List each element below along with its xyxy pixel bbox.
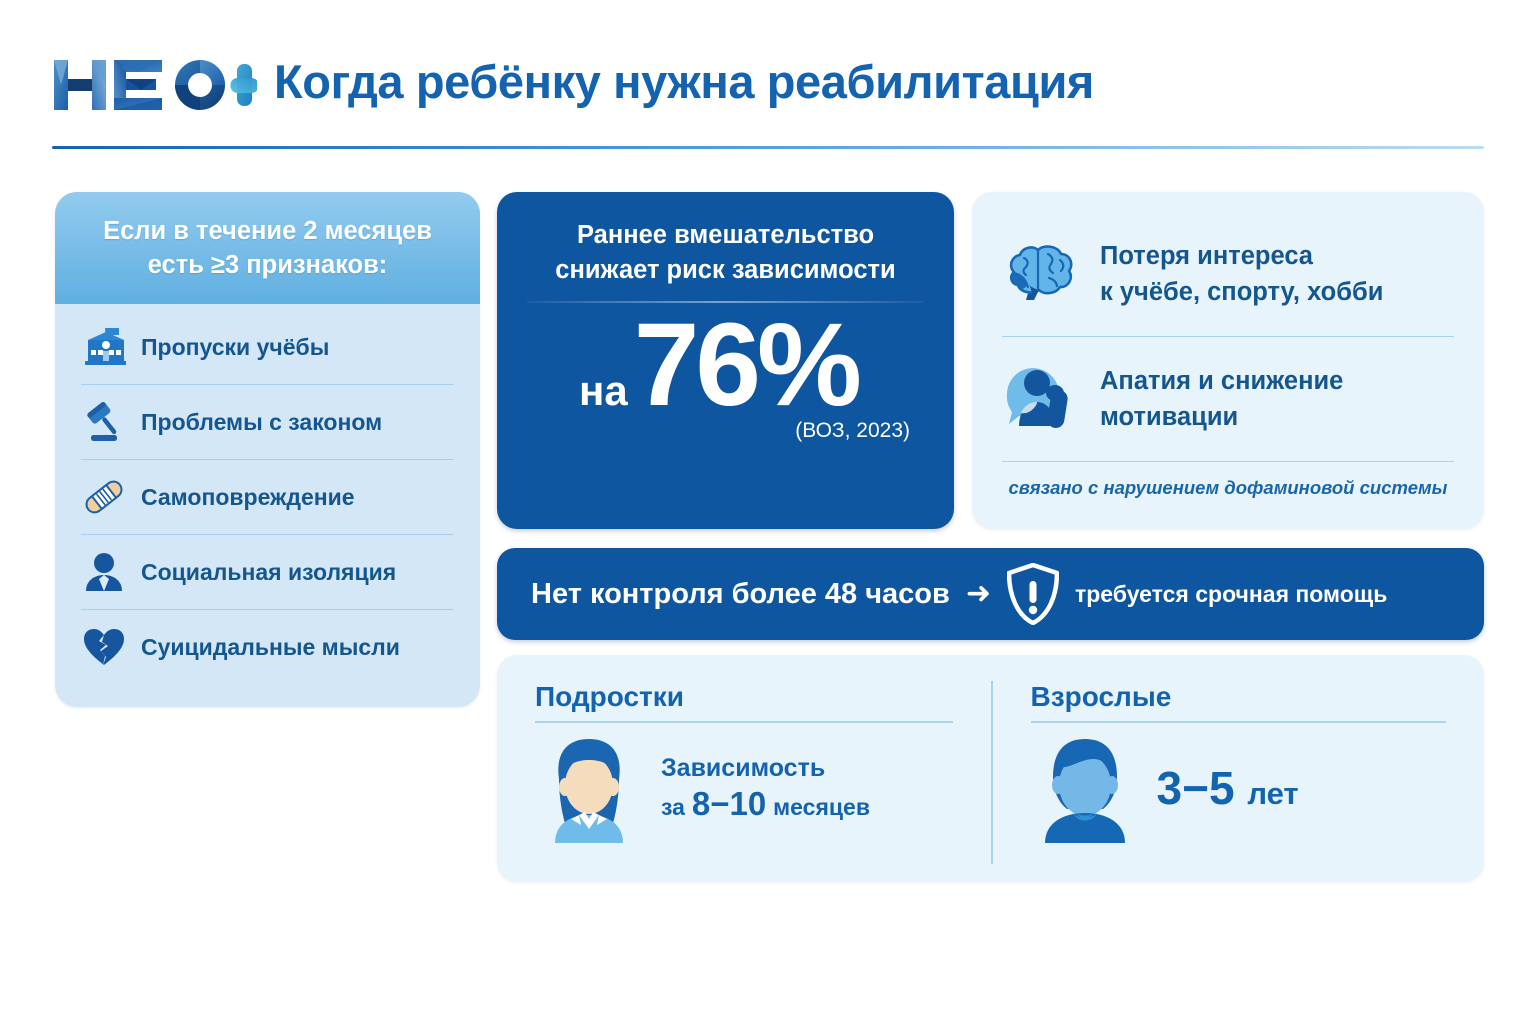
list-item-label: Проблемы с законом [141,409,382,436]
stat-heading: Раннее вмешательство снижает риск зависи… [497,192,954,288]
adults-text: 3−5 лет [1157,761,1299,815]
symptom-line2: к учёбе, спорту, хобби [1100,274,1383,310]
gavel-icon [81,399,127,445]
adults-divider [1031,721,1447,723]
list-item[interactable]: Суицидальные мысли [81,610,454,684]
title-divider [52,146,1484,149]
timeline-comparison-card: Подростки Зависимость за [497,655,1484,882]
stat-heading-line1: Раннее вмешательство [523,218,928,253]
stat-heading-line2: снижает риск зависимости [523,253,928,288]
list-item[interactable]: Социальная изоляция [81,535,454,610]
symptom-line2: мотивации [1100,399,1343,435]
adults-value: 3−5 [1157,762,1235,814]
teens-text: Зависимость за 8−10 месяцев [661,750,870,825]
list-item[interactable]: Потеря интереса к учёбе, спорту, хобби [1002,212,1454,337]
signs-list: Пропуски учёбы Проблемы с законом [55,304,480,698]
shield-alert-icon [1007,563,1059,625]
list-item-label: Социальная изоляция [141,559,396,586]
teens-line1: Зависимость [661,750,870,786]
list-item[interactable]: Проблемы с законом [81,385,454,460]
urgent-main-text: Нет контроля более 48 часов [531,578,950,611]
teens-column: Подростки Зависимость за [497,681,991,864]
early-intervention-stat-card: Раннее вмешательство снижает риск зависи… [497,192,954,529]
brain-icon [1002,239,1080,309]
list-item-label: Потеря интереса к учёбе, спорту, хобби [1100,238,1383,310]
teen-girl-avatar [535,733,643,843]
urgent-help-banner: Нет контроля более 48 часов ➜ требуется … [497,548,1484,640]
adult-man-avatar [1031,733,1139,843]
teens-prefix: за [661,794,685,820]
list-item[interactable]: Самоповреждение [81,460,454,535]
signs-card-header: Если в течение 2 месяцев есть ≥3 признак… [55,192,480,304]
adults-title: Взрослые [1031,681,1447,713]
adults-column: Взрослые 3−5 лет [991,681,1485,864]
arrow-right-icon: ➜ [966,579,991,609]
stat-value: 76% [634,309,858,421]
stat-prefix: на [579,367,628,415]
broken-heart-icon [81,624,127,670]
bandage-icon [81,474,127,520]
teens-title: Подростки [535,681,953,713]
signs-header-line2: есть ≥3 признаков: [103,248,432,282]
symptom-line1: Апатия и снижение [1100,363,1343,399]
stat-value-row: на 76% [497,309,954,421]
page-title: Когда ребёнку нужна реабилитация [274,46,1094,118]
list-item-label: Самоповреждение [141,484,355,511]
urgent-tail-text: требуется срочная помощь [1075,581,1387,608]
list-item-label: Суицидальные мысли [141,634,400,661]
apathy-person-icon [1002,364,1080,434]
signs-header-line1: Если в течение 2 месяцев [103,214,432,248]
school-building-icon [81,324,127,370]
teens-divider [535,721,953,723]
teens-value: 8−10 [692,785,766,822]
list-item-label: Пропуски учёбы [141,334,329,361]
teens-unit: месяцев [773,794,870,820]
symptoms-card: Потеря интереса к учёбе, спорту, хобби А… [972,192,1484,529]
symptoms-note: связано с нарушением дофаминовой системы [1002,462,1454,499]
signs-checklist-card: Если в течение 2 месяцев есть ≥3 признак… [55,192,480,707]
list-item-label: Апатия и снижение мотивации [1100,363,1343,435]
neo-plus-logo [52,54,257,116]
symptom-line1: Потеря интереса [1100,238,1383,274]
adults-unit: лет [1247,776,1298,811]
page-header: Когда ребёнку нужна реабилитация [52,46,1484,146]
list-item[interactable]: Апатия и снижение мотивации [1002,337,1454,462]
person-icon [81,549,127,595]
list-item[interactable]: Пропуски учёбы [81,310,454,385]
